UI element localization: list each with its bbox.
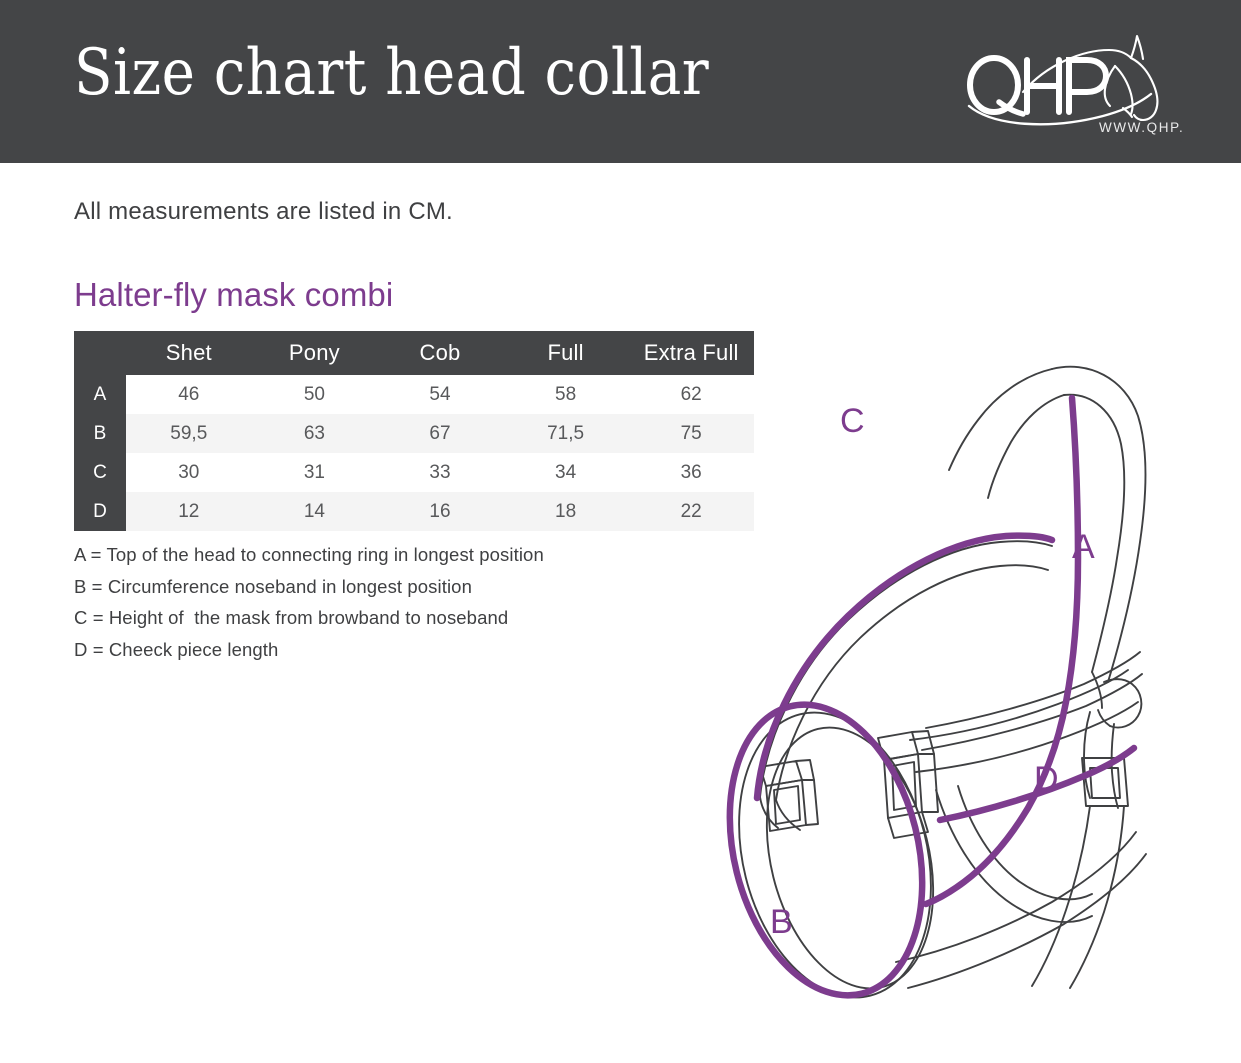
cell-b-pony: 63 [252,414,378,453]
halter-buckle-center [878,731,938,838]
section-title: Halter-fly mask combi [74,276,393,314]
row-label-c: C [74,453,126,492]
table-row: C 30 31 33 34 36 [74,453,754,492]
table-row: D 12 14 16 18 22 [74,492,754,531]
row-label-d: D [74,492,126,531]
diagram-label-b: B [770,903,793,941]
row-label-a: A [74,375,126,414]
diagram-label-d: D [1034,760,1059,798]
table-row: B 59,5 63 67 71,5 75 [74,414,754,453]
cell-c-cob: 33 [377,453,503,492]
cell-c-full: 34 [503,453,629,492]
column-header-full: Full [503,331,629,375]
measure-line-a [926,398,1078,904]
cell-d-full: 18 [503,492,629,531]
measure-ellipse-b [701,684,951,1016]
logo-url-text: WWW.QHP.NL [1099,120,1183,135]
cell-d-pony: 14 [252,492,378,531]
cell-c-pony: 31 [252,453,378,492]
legend-line-b: B = Circumference noseband in longest po… [74,571,714,603]
halter-diagram: C A B D [700,320,1200,1020]
cell-c-shet: 30 [126,453,252,492]
cell-b-cob: 67 [377,414,503,453]
horse-head-logo-icon [1023,36,1157,120]
legend-line-a: A = Top of the head to connecting ring i… [74,539,714,571]
cell-a-full: 58 [503,375,629,414]
row-label-b: B [74,414,126,453]
page-title: Size chart head collar [74,36,709,110]
cell-a-shet: 46 [126,375,252,414]
size-chart-table: Shet Pony Cob Full Extra Full A 46 50 54… [74,331,754,531]
cell-b-full: 71,5 [503,414,629,453]
cell-d-shet: 12 [126,492,252,531]
diagram-label-c: C [840,402,865,440]
qhp-wordmark [970,58,1106,114]
cell-a-cob: 54 [377,375,503,414]
column-header-shet: Shet [126,331,252,375]
cell-b-shet: 59,5 [126,414,252,453]
legend-line-d: D = Cheeck piece length [74,634,714,666]
measure-line-c [757,536,1052,798]
diagram-label-a: A [1072,528,1095,566]
qhp-logo: WWW.QHP.NL [963,28,1183,140]
measurement-overlays [701,398,1134,1016]
cell-d-cob: 16 [377,492,503,531]
table-corner-cell [74,331,126,375]
table-row: A 46 50 54 58 62 [74,375,754,414]
page-header: Size chart head collar [0,0,1241,163]
measurement-legend: A = Top of the head to connecting ring i… [74,539,714,665]
table-header-row: Shet Pony Cob Full Extra Full [74,331,754,375]
cell-a-pony: 50 [252,375,378,414]
column-header-pony: Pony [252,331,378,375]
column-header-cob: Cob [377,331,503,375]
measurement-unit-note: All measurements are listed in CM. [74,198,453,226]
legend-line-c: C = Height of the mask from browband to … [74,602,714,634]
